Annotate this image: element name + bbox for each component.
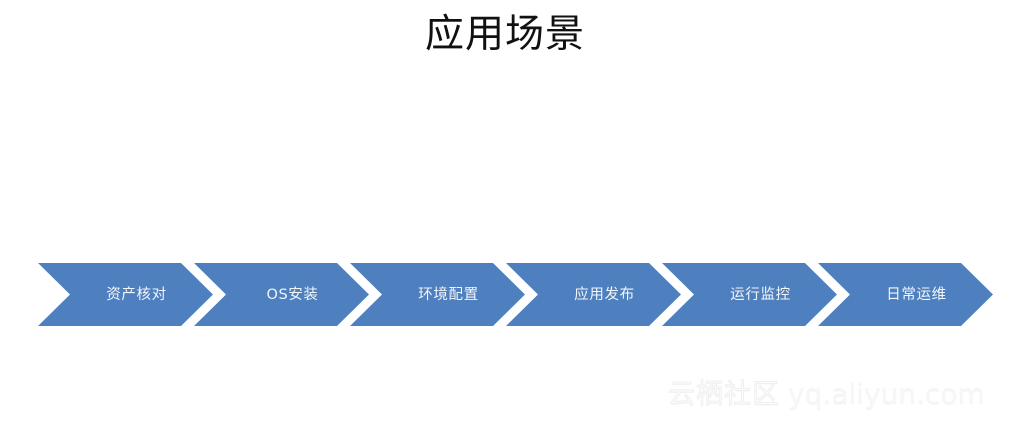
process-step-1[interactable]: 资产核对	[38, 263, 213, 326]
process-step-1-label: 资产核对	[84, 286, 166, 304]
process-step-6[interactable]: 日常运维	[818, 263, 993, 326]
process-flow-diagram: 资产核对 OS安装 环境配置 应用发布 运行监控 日常运维	[38, 263, 974, 326]
process-step-3[interactable]: 环境配置	[350, 263, 525, 326]
process-step-4-label: 应用发布	[552, 286, 634, 304]
watermark-url-text: yq.aliyun.com	[788, 378, 985, 410]
process-step-4[interactable]: 应用发布	[506, 263, 681, 326]
process-step-3-label: 环境配置	[396, 286, 478, 304]
slide-canvas: 应用场景 资产核对 OS安装 环境配置 应用发布 运行监控 日常运维 云栖社区 …	[0, 0, 1010, 424]
process-step-5[interactable]: 运行监控	[662, 263, 837, 326]
watermark: 云栖社区 yq.aliyun.com	[668, 378, 985, 414]
process-step-6-label: 日常运维	[864, 286, 946, 304]
page-title: 应用场景	[0, 12, 1010, 58]
process-step-5-label: 运行监控	[708, 286, 790, 304]
process-step-2[interactable]: OS安装	[194, 263, 369, 326]
watermark-brand-text: 云栖社区	[668, 379, 780, 411]
process-step-2-label: OS安装	[244, 286, 318, 304]
